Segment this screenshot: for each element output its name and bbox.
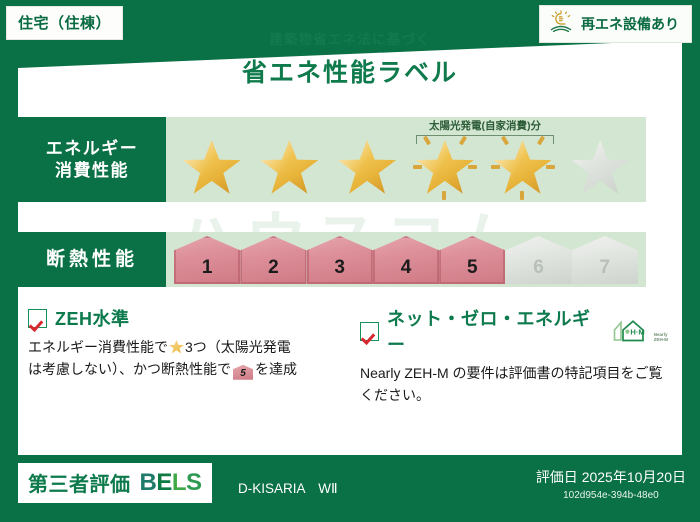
star-ray-icon — [546, 165, 555, 169]
checkbox-checked-icon — [360, 322, 379, 341]
solar-share-bracket: 太陽光発電(自家消費)分 — [416, 118, 554, 144]
insulation-performance-row: 断熱性能 1 2 3 4 5 6 7 — [18, 232, 646, 287]
zeh-body-stars: 3つ（太陽光発電 — [185, 339, 291, 355]
criterion-nze-title: ネット・ゼロ・エネルギー — [387, 305, 600, 357]
insulation-grade-house: 7 — [572, 236, 638, 284]
star-slot — [257, 134, 321, 200]
energy-performance-label: ハウスコム 住宅（住棟） 再エネ設備あり 建築物省エネ法に基づく 省エネ性能ラ — [0, 0, 700, 522]
star-icon-filled-solar — [416, 140, 474, 196]
star-ray-icon — [468, 165, 477, 169]
criterion-zeh: ZEH水準 エネルギー消費性能で3つ（太陽光発電は考慮しない）、かつ断熱性能で5… — [18, 305, 350, 415]
star-icon-inline — [169, 340, 184, 354]
building-type-tag: 住宅（住棟） — [6, 6, 123, 40]
criterion-nze-body: Nearly ZEH-M の要件は評価書の特記項目をご覧ください。 — [360, 363, 668, 406]
bracket-line — [416, 135, 554, 144]
svg-text:H·M: H·M — [630, 328, 644, 337]
insulation-grade-house: 4 — [373, 236, 439, 284]
criterion-zeh-body: エネルギー消費性能で3つ（太陽光発電は考慮しない）、かつ断熱性能で5を達成 — [28, 337, 336, 380]
insulation-performance-label: 断熱性能 — [18, 232, 166, 287]
nearly-zeh-m-sublabel: Nearly ZEH-M — [654, 332, 668, 344]
criterion-zeh-title: ZEH水準 — [55, 305, 130, 331]
project-name: D-KISARIA WⅡ — [238, 477, 338, 497]
footer: 第三者評価 BELS D-KISARIA WⅡ 評価日 2025年10月20日 … — [0, 455, 700, 522]
building-type-label: 住宅（住棟） — [18, 15, 111, 32]
energy-performance-label: エネルギー 消費性能 — [18, 117, 166, 202]
bels-wordmark: BELS — [140, 469, 202, 497]
star-rating — [166, 134, 646, 200]
energy-performance-row: エネルギー 消費性能 太陽光発電(自家消費)分 — [18, 117, 646, 202]
insulation-grade-house: 3 — [307, 236, 373, 284]
bels-certification-mark: 第三者評価 BELS — [18, 463, 212, 503]
criterion-zeh-header: ZEH水準 — [28, 305, 336, 331]
star-ray-icon — [413, 165, 422, 169]
star-icon-filled — [338, 140, 396, 196]
checkbox-checked-icon — [28, 309, 47, 328]
insulation-grade-house: 5 — [439, 236, 505, 284]
nearly-zeh-m-logo: H·M Nearly ZEH-M — [612, 318, 668, 344]
insulation-grade-house: 6 — [505, 236, 571, 284]
star-slot — [180, 134, 244, 200]
house-icon-inline: 5 — [233, 365, 253, 380]
insulation-grades-area: 1 2 3 4 5 6 7 — [166, 232, 646, 287]
star-ray-icon — [491, 165, 500, 169]
solar-share-caption: 太陽光発電(自家消費)分 — [416, 118, 554, 133]
energy-performance-stars-area: 太陽光発電(自家消費)分 — [166, 117, 646, 202]
insulation-grade-scale: 1 2 3 4 5 6 7 — [174, 236, 638, 284]
star-icon-filled — [260, 140, 318, 196]
star-ray-icon — [520, 191, 524, 200]
zeh-m-house-icon: H·M — [612, 318, 652, 344]
star-ray-icon — [442, 191, 446, 200]
zeh-body-suffix: を達成 — [255, 361, 297, 377]
star-icon-filled-solar — [494, 140, 552, 196]
renewable-badge-label: 再エネ設備あり — [581, 14, 679, 34]
third-party-label: 第三者評価 — [28, 468, 131, 497]
star-icon-empty — [571, 140, 629, 196]
criteria-section: ZEH水準 エネルギー消費性能で3つ（太陽光発電は考慮しない）、かつ断熱性能で5… — [18, 305, 682, 415]
star-slot — [568, 134, 632, 200]
insulation-grade-house: 2 — [240, 236, 306, 284]
zeh-body-mid: は考慮しない）、かつ断熱性能で — [28, 361, 231, 377]
insulation-grade-house: 1 — [174, 236, 240, 284]
star-icon-filled — [183, 140, 241, 196]
evaluation-date: 評価日 2025年10月20日 — [536, 467, 686, 487]
criterion-nze-header: ネット・ゼロ・エネルギー H·M Nearly ZEH-M — [360, 305, 668, 357]
zeh-body-prefix: エネルギー消費性能で — [28, 339, 168, 355]
star-slot — [335, 134, 399, 200]
renewable-equipment-badge: 再エネ設備あり — [539, 5, 692, 43]
criterion-net-zero-energy: ネット・ゼロ・エネルギー H·M Nearly ZEH-M Nearly ZEH… — [350, 305, 682, 415]
document-id: 102d954e-394b-48e0 — [536, 490, 686, 501]
sun-renewable-icon — [548, 10, 574, 37]
evaluation-info: 評価日 2025年10月20日 102d954e-394b-48e0 — [536, 467, 686, 501]
label-main-title: 省エネ性能ラベル — [0, 53, 700, 89]
